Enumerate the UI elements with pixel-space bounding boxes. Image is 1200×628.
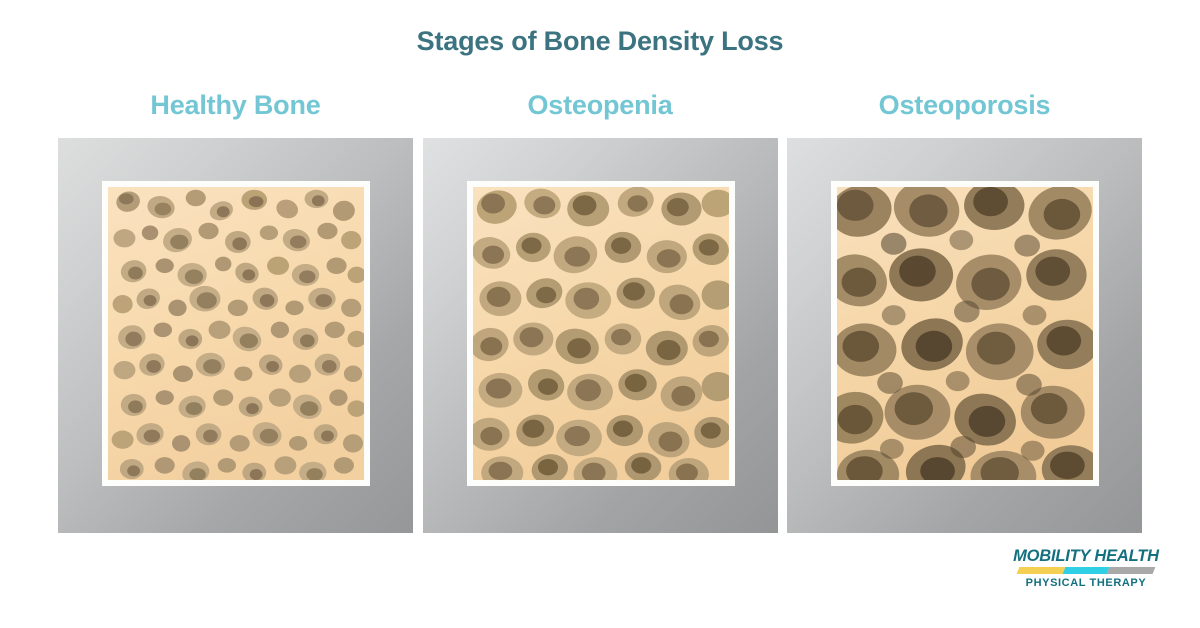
stage-label-osteopenia: Osteopenia xyxy=(423,88,778,138)
logo-stripe-icon xyxy=(1006,567,1166,574)
bone-plate-healthy-bone xyxy=(102,181,370,486)
logo-stripe-cyan-icon xyxy=(1063,567,1110,574)
stage-column-healthy-bone: Healthy Bone xyxy=(58,88,413,540)
page-title: Stages of Bone Density Loss xyxy=(0,26,1200,57)
bone-texture-osteopenia xyxy=(473,187,729,480)
logo-stripe-gray-icon xyxy=(1107,567,1156,574)
stage-label-osteoporosis: Osteoporosis xyxy=(787,88,1142,138)
stage-column-osteopenia: Osteopenia xyxy=(423,88,778,540)
bone-plate-osteopenia xyxy=(467,181,735,486)
stage-label-healthy-bone: Healthy Bone xyxy=(58,88,413,138)
logo-wordmark: MOBILITY HEALTH xyxy=(1006,547,1166,565)
bone-frame-osteoporosis xyxy=(787,138,1142,533)
bone-frame-osteopenia xyxy=(423,138,778,533)
bone-texture-osteoporosis xyxy=(837,187,1093,480)
stage-column-osteoporosis: Osteoporosis xyxy=(787,88,1142,540)
bone-frame-healthy-bone xyxy=(58,138,413,533)
bone-density-infographic: Stages of Bone Density Loss Healthy Bone xyxy=(0,0,1200,628)
logo-stripe-yellow-icon xyxy=(1017,567,1066,574)
bone-plate-osteoporosis xyxy=(831,181,1099,486)
logo-tagline: PHYSICAL THERAPY xyxy=(1006,577,1166,590)
bone-texture-healthy-bone xyxy=(108,187,364,480)
stage-columns: Healthy Bone xyxy=(58,88,1142,540)
logo: MOBILITY HEALTH PHYSICAL THERAPY xyxy=(1006,547,1166,590)
